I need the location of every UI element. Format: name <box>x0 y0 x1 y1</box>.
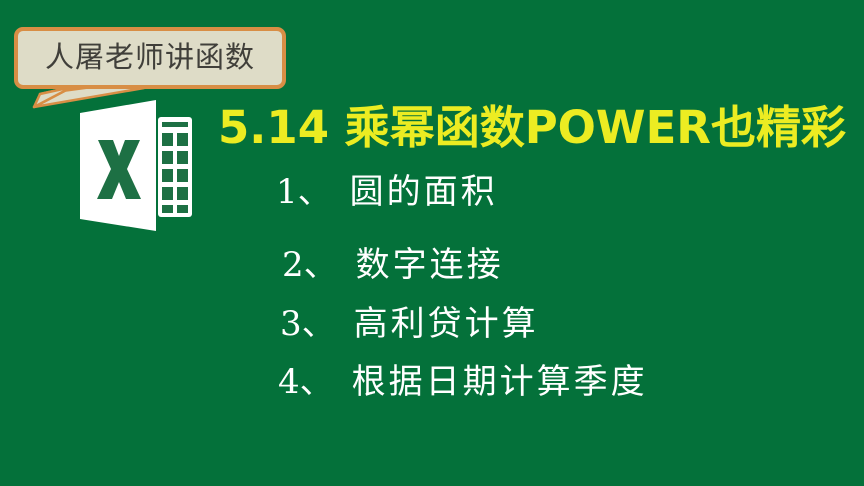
list-item-number: 3、 <box>280 307 336 341</box>
slide-title: 5.14 乘幂函数POWER也精彩 <box>218 96 858 162</box>
excel-logo-grid-panel <box>158 117 192 217</box>
list-item-label: 高利贷计算 <box>354 307 539 341</box>
list-item-number: 1、 <box>276 175 332 209</box>
channel-name-bubble: 人屠老师讲函数 <box>14 27 286 89</box>
channel-name-label: 人屠老师讲函数 <box>45 43 255 74</box>
presentation-slide: 人屠老师讲函数 5.14 乘幂函数POWER也精彩 <box>0 0 864 486</box>
list-item: 2、数字连接 <box>282 248 504 282</box>
list-item-number: 4、 <box>278 365 334 399</box>
microsoft-excel-logo <box>72 96 196 235</box>
list-item: 3、高利贷计算 <box>280 307 539 341</box>
list-item-number: 2、 <box>282 248 338 282</box>
bubble-body: 人屠老师讲函数 <box>14 27 286 89</box>
list-item-label: 根据日期计算季度 <box>352 365 648 399</box>
list-item-label: 圆的面积 <box>350 175 498 209</box>
list-item: 1、圆的面积 <box>276 175 498 209</box>
list-item-label: 数字连接 <box>356 248 504 282</box>
list-item: 4、根据日期计算季度 <box>278 365 648 399</box>
